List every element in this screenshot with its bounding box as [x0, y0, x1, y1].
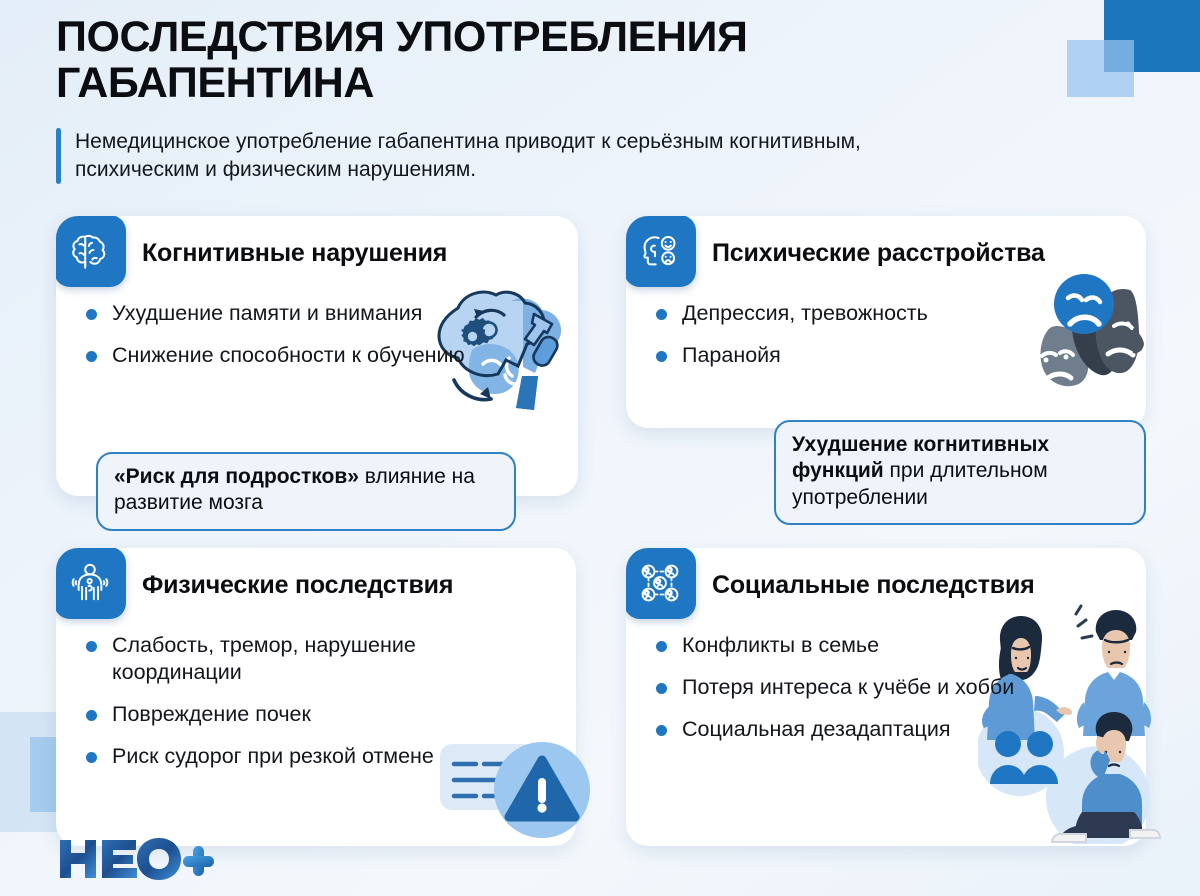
card-mental[interactable]: Психические расстройства Депрессия, трев… — [626, 216, 1146, 428]
subtitle-block: Немедицинское употребление габапентина п… — [56, 128, 1144, 184]
card-mental-header: Психические расстройства — [626, 216, 1146, 290]
list-item: Слабость, тремор, нарушение координации — [86, 632, 466, 686]
callout-teen-risk-text: «Риск для подростков» влияние на развити… — [114, 464, 498, 517]
card-social[interactable]: Социальные последствия Конфликты в семье… — [626, 548, 1146, 846]
card-social-bullets: Конфликты в семье Потеря интереса к учёб… — [626, 622, 1146, 743]
callout-teen-risk-bold: «Риск для подростков» — [114, 465, 359, 488]
page-subtitle: Немедицинское употребление габапентина п… — [75, 128, 905, 184]
card-physical-title: Физические последствия — [142, 571, 453, 600]
head-emotions-icon — [626, 216, 696, 287]
card-cognitive-title: Когнитивные нарушения — [142, 239, 447, 268]
card-physical-header: Физические последствия — [56, 548, 576, 622]
callout-teen-risk[interactable]: «Риск для подростков» влияние на развити… — [96, 452, 516, 531]
card-mental-bullets: Депрессия, тревожность Паранойя — [626, 290, 1146, 369]
card-cognitive-header: Когнитивные нарушения — [56, 216, 578, 290]
brain-icon — [56, 216, 126, 287]
list-item: Паранойя — [656, 342, 1056, 369]
neo-plus-logo-icon — [56, 836, 226, 882]
list-item: Ухудшение памяти и внимания — [86, 300, 466, 327]
cards-grid: Когнитивные нарушения Ухудшение памяти и… — [0, 202, 1200, 862]
brand-logo[interactable] — [56, 836, 226, 882]
header: ПОСЛЕДСТВИЯ УПОТРЕБЛЕНИЯ ГАБАПЕНТИНА Нем… — [0, 0, 1200, 184]
callout-long-term[interactable]: Ухудшение когнитивных функций при длител… — [774, 420, 1146, 525]
card-social-title: Социальные последствия — [712, 571, 1035, 600]
card-physical[interactable]: Физические последствия Слабость, тремор,… — [56, 548, 576, 846]
card-cognitive-bullets: Ухудшение памяти и внимания Снижение спо… — [56, 290, 578, 369]
page-title: ПОСЛЕДСТВИЯ УПОТРЕБЛЕНИЯ ГАБАПЕНТИНА — [56, 14, 956, 106]
subtitle-accent-bar — [56, 128, 61, 184]
list-item: Риск судорог при резкой отмене — [86, 743, 466, 770]
body-organs-icon — [56, 548, 126, 619]
list-item: Депрессия, тревожность — [656, 300, 1056, 327]
list-item: Повреждение почек — [86, 701, 466, 728]
list-item: Снижение способности к обучению — [86, 342, 466, 369]
list-item: Потеря интереса к учёбе и хобби — [656, 674, 1056, 701]
callout-long-term-text: Ухудшение когнитивных функций при длител… — [792, 432, 1128, 511]
card-physical-bullets: Слабость, тремор, нарушение координации … — [56, 622, 576, 770]
card-social-header: Социальные последствия — [626, 548, 1146, 622]
list-item: Конфликты в семье — [656, 632, 1056, 659]
people-network-icon — [626, 548, 696, 619]
card-mental-title: Психические расстройства — [712, 239, 1045, 268]
list-item: Социальная дезадаптация — [656, 716, 1056, 743]
